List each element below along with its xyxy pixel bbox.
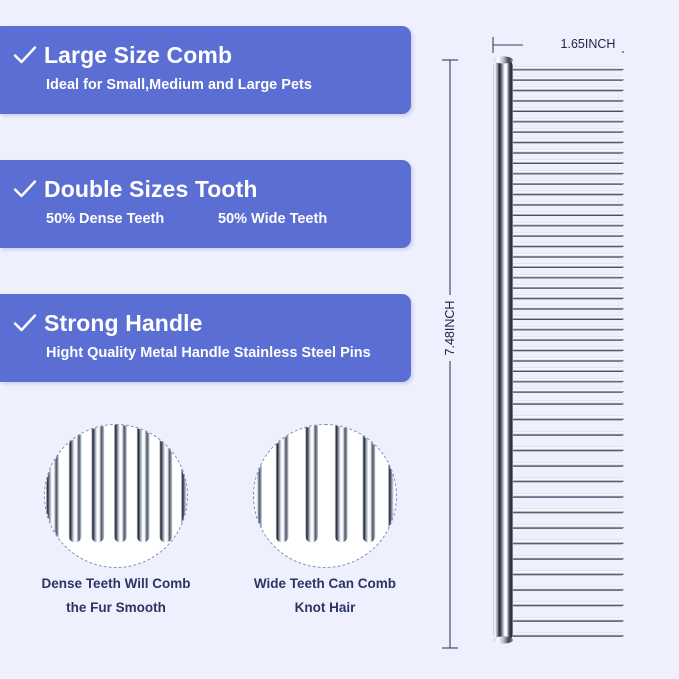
comb-spine bbox=[493, 56, 513, 643]
detail-caption-dense: Dense Teeth Will Comb the Fur Smooth bbox=[11, 572, 221, 620]
product-infographic: Large Size Comb Ideal for Small,Medium a… bbox=[0, 0, 679, 679]
feature-subtitle-split: 50% Dense Teeth 50% Wide Teeth bbox=[12, 212, 411, 227]
detail-circle-dense-teeth bbox=[44, 424, 188, 568]
feature-banner-heading-row: Large Size Comb bbox=[12, 26, 411, 78]
feature-subtitle-dense: 50% Dense Teeth bbox=[46, 212, 218, 227]
check-icon bbox=[12, 42, 38, 68]
stainless-steel-pet-comb-icon bbox=[430, 0, 679, 679]
detail-caption-line2: Knot Hair bbox=[220, 596, 430, 620]
feature-title: Large Size Comb bbox=[44, 44, 232, 67]
feature-banner-heading-row: Double Sizes Tooth bbox=[12, 160, 411, 212]
detail-circle-frame bbox=[253, 424, 397, 568]
detail-caption-wide: Wide Teeth Can Comb Knot Hair bbox=[220, 572, 430, 620]
feature-subtitle: Ideal for Small,Medium and Large Pets bbox=[12, 78, 411, 93]
feature-subtitle: Hight Quality Metal Handle Stainless Ste… bbox=[12, 346, 411, 361]
feature-subtitle-wide: 50% Wide Teeth bbox=[218, 212, 327, 227]
comb-pins-dense bbox=[508, 66, 624, 393]
detail-caption-line1: Dense Teeth Will Comb bbox=[11, 572, 221, 596]
detail-circle-frame bbox=[44, 424, 188, 568]
feature-banner-strong-handle: Strong Handle Hight Quality Metal Handle… bbox=[0, 294, 411, 382]
check-icon bbox=[12, 176, 38, 202]
dense-teeth-closeup-icon bbox=[45, 425, 187, 567]
feature-banner-large-size-comb: Large Size Comb Ideal for Small,Medium a… bbox=[0, 26, 411, 114]
height-dimension-label: 7.48INCH bbox=[442, 295, 458, 361]
width-dimension-label: 1.65INCH bbox=[523, 37, 653, 51]
feature-banner-heading-row: Strong Handle bbox=[12, 294, 411, 346]
feature-banner-double-sizes-tooth: Double Sizes Tooth 50% Dense Teeth 50% W… bbox=[0, 160, 411, 248]
comb-pins-wide bbox=[508, 400, 624, 637]
check-icon bbox=[12, 310, 38, 336]
detail-caption-line2: the Fur Smooth bbox=[11, 596, 221, 620]
detail-circle-wide-teeth bbox=[253, 424, 397, 568]
product-photo-with-dimensions: 1.65INCH 7.48INCH bbox=[430, 0, 679, 679]
feature-title: Strong Handle bbox=[44, 312, 202, 335]
wide-teeth-closeup-icon bbox=[254, 425, 396, 567]
feature-title: Double Sizes Tooth bbox=[44, 178, 257, 201]
detail-caption-line1: Wide Teeth Can Comb bbox=[220, 572, 430, 596]
